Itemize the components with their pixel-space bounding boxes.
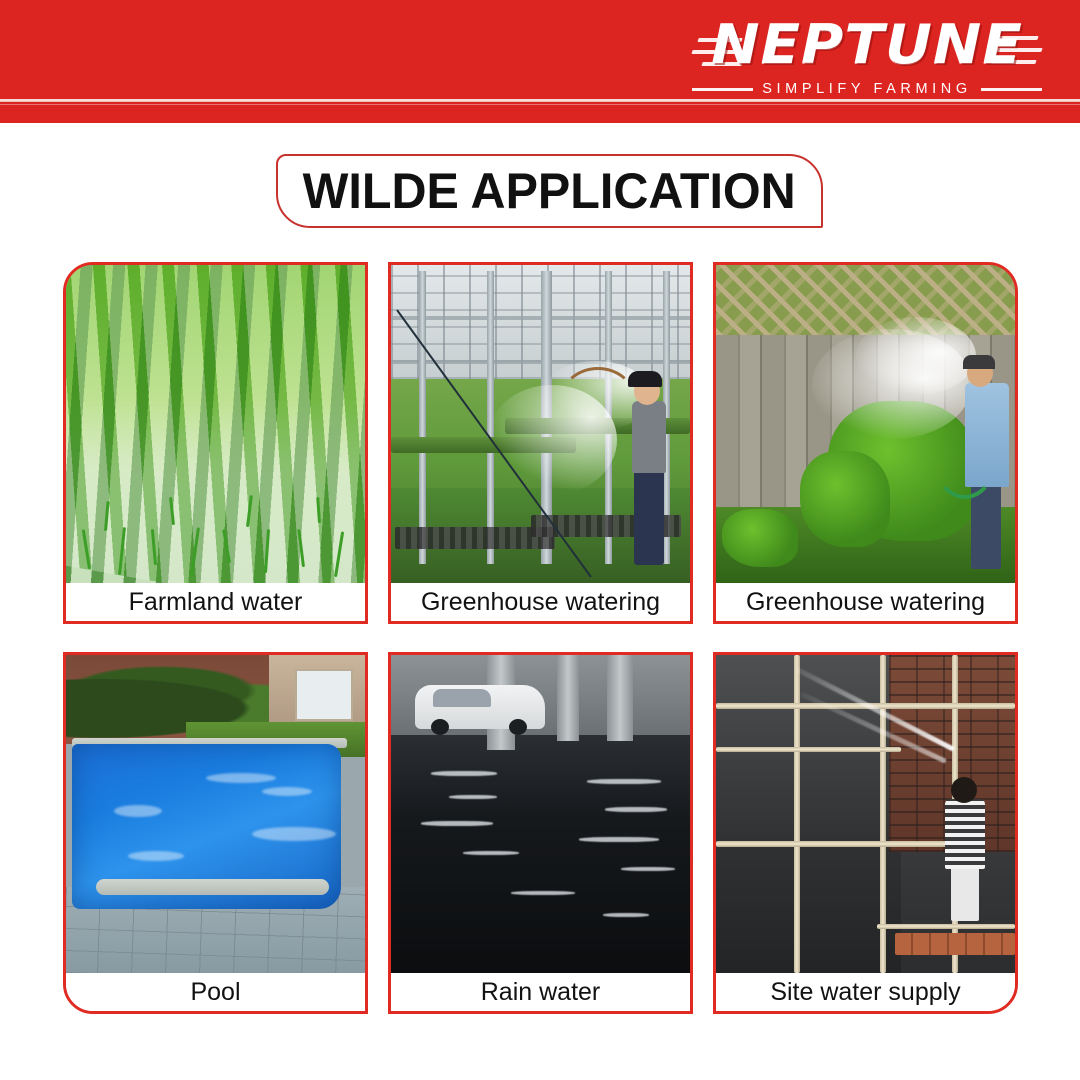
cap-icon — [628, 371, 662, 387]
water-spray — [856, 317, 976, 395]
cap-icon — [963, 355, 995, 369]
brand-tagline-row: SIMPLIFY FARMING — [692, 78, 1042, 100]
gallery-card[interactable]: Site water supply — [713, 652, 1018, 1014]
hose-icon — [933, 419, 997, 499]
gallery-card[interactable]: Rain water — [388, 652, 693, 1014]
card-caption-text: Greenhouse watering — [421, 589, 660, 615]
card-caption-text: Greenhouse watering — [746, 589, 985, 615]
photo-construction-site — [716, 655, 1015, 973]
card-caption-text: Site water supply — [770, 979, 960, 1005]
brand-tagline: SIMPLIFY FARMING — [762, 81, 972, 97]
page-title-banner: WILDE APPLICATION — [276, 154, 823, 228]
gallery-card[interactable]: Greenhouse watering — [388, 262, 693, 624]
paddy-row-pattern-secondary — [66, 265, 365, 583]
gallery-card[interactable]: Greenhouse watering — [713, 262, 1018, 624]
photo-garden-fence-watering — [716, 265, 1015, 583]
card-caption-text: Rain water — [481, 979, 601, 1005]
gallery-card[interactable]: Farmland water — [63, 262, 368, 624]
photo-flooded-street — [391, 655, 690, 973]
header-band: NEPTUNE SIMPLIFY FARMING — [0, 0, 1080, 123]
brand-logo: NEPTUNE SIMPLIFY FARMING — [692, 16, 1042, 108]
photo-swimming-pool — [66, 655, 365, 973]
page-title: WILDE APPLICATION — [303, 166, 796, 216]
card-caption: Greenhouse watering — [391, 583, 690, 621]
hose-icon — [560, 367, 636, 433]
photo-rice-paddy-field — [66, 265, 365, 583]
card-caption-text: Farmland water — [129, 589, 303, 615]
application-gallery: Farmland water Gr — [63, 262, 1017, 1014]
flood-water — [391, 735, 690, 974]
worker — [945, 799, 985, 869]
card-caption: Site water supply — [716, 973, 1015, 1011]
fence-lattice-top — [716, 265, 1015, 335]
tagline-rule-right — [981, 88, 1042, 91]
photo-greenhouse-interior — [391, 265, 690, 583]
brand-name: NEPTUNE — [680, 16, 1055, 76]
card-caption: Rain water — [391, 973, 690, 1011]
card-caption: Pool — [66, 973, 365, 1011]
tagline-rule-left — [692, 88, 753, 91]
card-caption: Greenhouse watering — [716, 583, 1015, 621]
card-caption: Farmland water — [66, 583, 365, 621]
gallery-card[interactable]: Pool — [63, 652, 368, 1014]
card-caption-text: Pool — [190, 979, 240, 1005]
